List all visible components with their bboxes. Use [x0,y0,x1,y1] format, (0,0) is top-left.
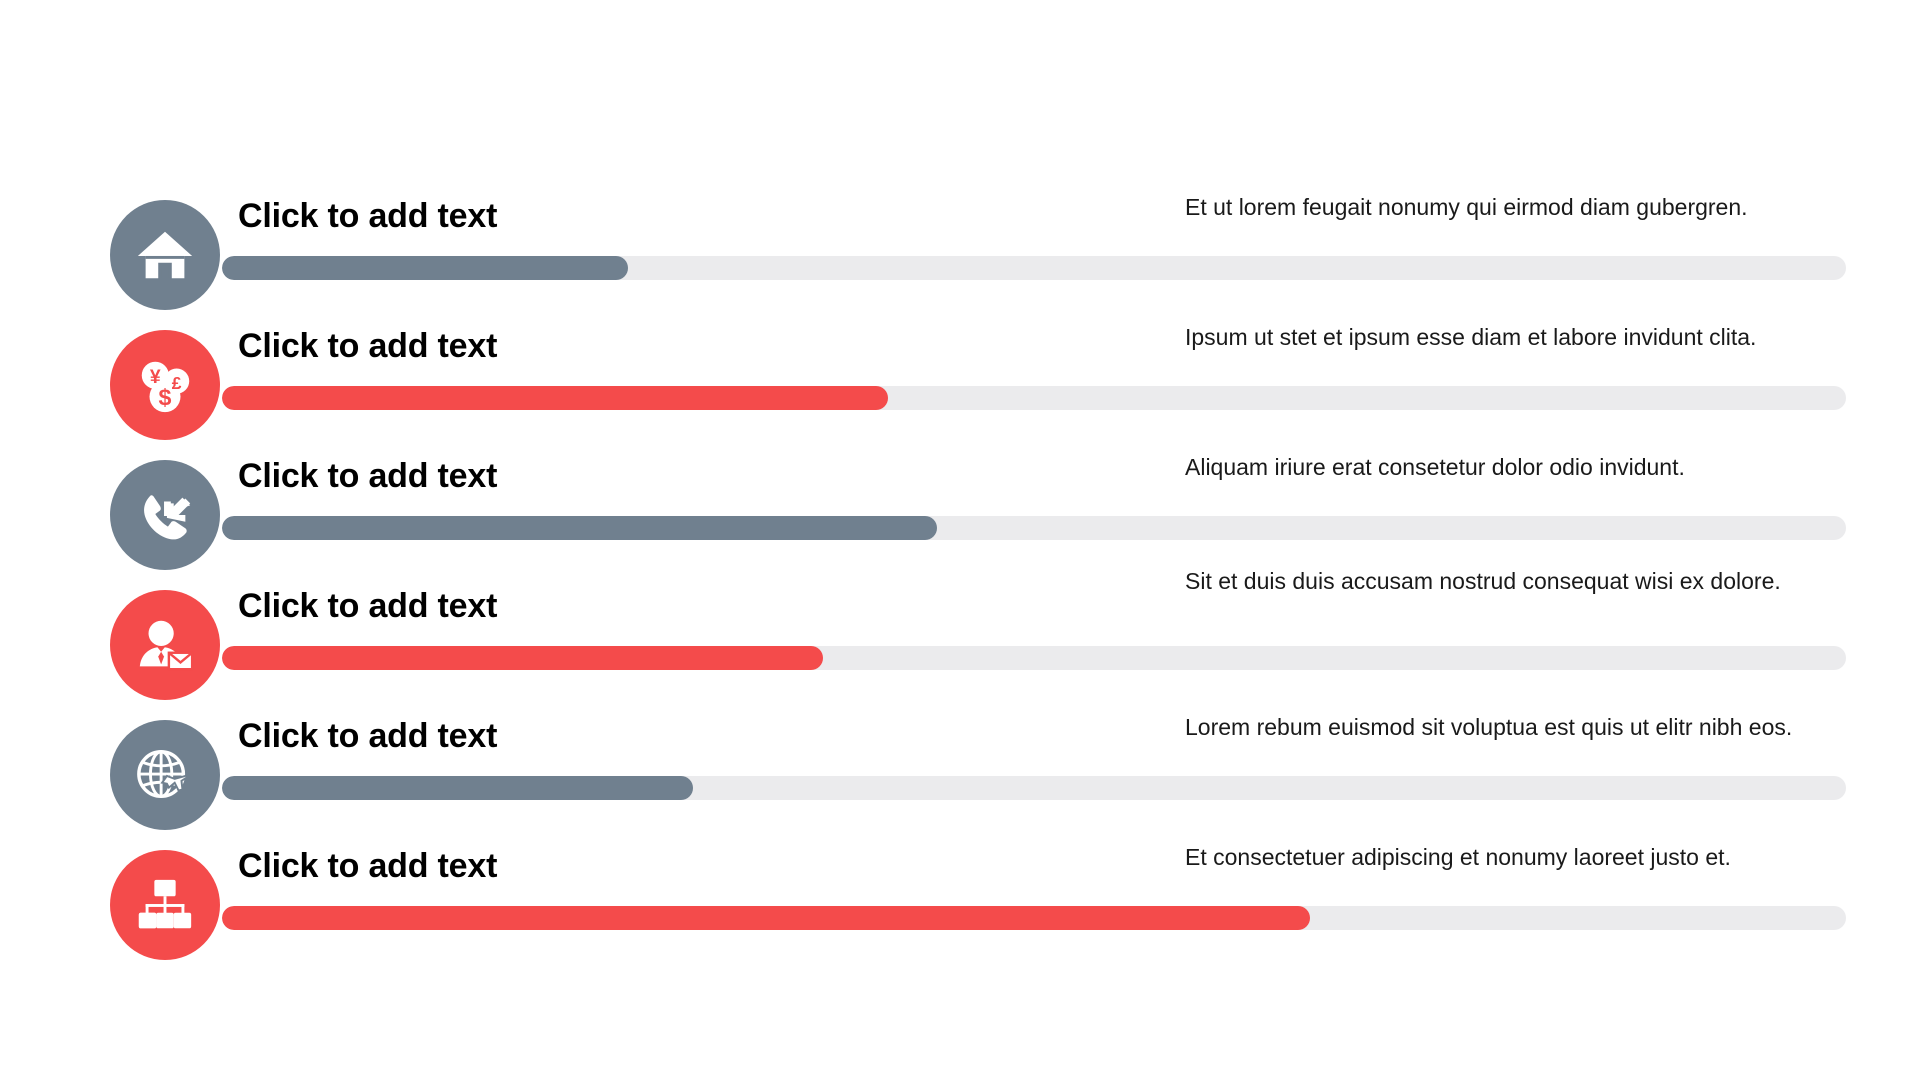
home-icon [134,224,196,286]
contact-person-mail-icon-badge[interactable] [110,590,220,700]
incoming-call-icon-badge[interactable] [110,460,220,570]
row-description: Ipsum ut stet et ipsum esse diam et labo… [1185,320,1845,354]
progress-track[interactable] [222,646,1846,670]
incoming-call-icon [134,484,196,546]
contact-person-mail-icon [134,614,196,676]
org-chart-icon-badge[interactable] [110,850,220,960]
progress-fill [222,906,1310,930]
home-icon-badge[interactable] [110,200,220,310]
progress-row[interactable]: Click to add text Lorem rebum euismod si… [0,716,1920,846]
svg-text:$: $ [159,384,172,410]
row-description: Sit et duis duis accusam nostrud consequ… [1185,564,1845,598]
progress-row[interactable]: Click to add text Sit et duis duis accus… [0,586,1920,716]
globe-airplane-icon-badge[interactable] [110,720,220,830]
globe-airplane-icon [134,744,196,806]
progress-fill [222,646,823,670]
progress-track[interactable] [222,776,1846,800]
progress-row[interactable]: Click to add text Et consectetuer adipis… [0,846,1920,976]
row-title[interactable]: Click to add text [238,586,497,626]
progress-track[interactable] [222,256,1846,280]
row-description: Lorem rebum euismod sit voluptua est qui… [1185,710,1845,744]
row-title[interactable]: Click to add text [238,846,497,886]
row-description: Et consectetuer adipiscing et nonumy lao… [1185,840,1845,874]
progress-fill [222,256,628,280]
row-title[interactable]: Click to add text [238,716,497,756]
row-title[interactable]: Click to add text [238,456,497,496]
svg-text:£: £ [172,373,182,393]
row-description: Aliquam iriure erat consetetur dolor odi… [1185,450,1845,484]
row-title[interactable]: Click to add text [238,196,497,236]
row-title[interactable]: Click to add text [238,326,497,366]
slide-canvas: Click to add text Et ut lorem feugait no… [0,0,1920,1080]
money-coins-icon-badge[interactable]: ¥ £ $ [110,330,220,440]
org-chart-icon [134,874,196,936]
progress-fill [222,776,693,800]
progress-track[interactable] [222,516,1846,540]
progress-row-list: Click to add text Et ut lorem feugait no… [0,196,1920,976]
row-description: Et ut lorem feugait nonumy qui eirmod di… [1185,190,1845,224]
progress-track[interactable] [222,906,1846,930]
progress-track[interactable] [222,386,1846,410]
progress-row[interactable]: ¥ £ $ Click to add text Ipsum ut stet et… [0,326,1920,456]
progress-fill [222,516,937,540]
progress-fill [222,386,888,410]
progress-row[interactable]: Click to add text Et ut lorem feugait no… [0,196,1920,326]
money-coins-icon: ¥ £ $ [134,354,196,416]
